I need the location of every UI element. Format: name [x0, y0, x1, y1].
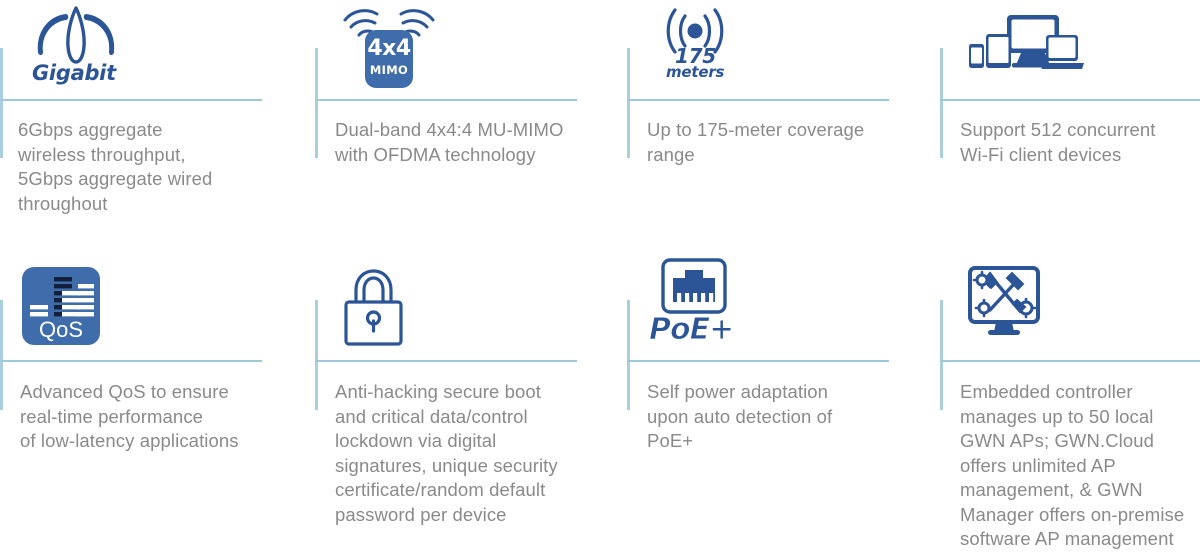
feature-caption: Advanced QoS to ensure real-time perform… — [20, 380, 295, 454]
feature-caption: 6Gbps aggregate wireless throughput, 5Gb… — [18, 118, 278, 216]
cell-vertical-rule — [0, 300, 3, 410]
cell-horizontal-rule — [315, 360, 577, 362]
range-icon-sub-label: meters — [666, 63, 724, 81]
gigabit-icon-label: Gigabit — [32, 61, 116, 85]
cell-horizontal-rule — [940, 360, 1200, 362]
feature-caption: Support 512 concurrent Wi-Fi client devi… — [960, 118, 1200, 167]
cell-horizontal-rule — [940, 99, 1200, 101]
feature-card-qos: QoS Advanced QoS to ensure real-time per… — [0, 250, 300, 526]
4x4-mimo-icon: 4x4 MIMO — [331, 2, 447, 90]
feature-caption: Self power adaptation upon auto detectio… — [647, 380, 917, 454]
feature-card-security: Anti-hacking secure boot and critical da… — [315, 250, 615, 526]
feature-card-mimo: 4x4 MIMO Dual-band 4x4:4 MU-MIMO with OF… — [315, 0, 615, 250]
cell-vertical-rule — [627, 48, 630, 158]
feature-card-gigabit: Gigabit 6Gbps aggregate wireless through… — [0, 0, 300, 250]
mimo-badge-sub-label: MIMO — [365, 63, 413, 77]
cell-vertical-rule — [940, 48, 943, 158]
qos-equalizer-icon: QoS — [22, 267, 100, 345]
cell-horizontal-rule — [627, 99, 889, 101]
feature-caption: Dual-band 4x4:4 MU-MIMO with OFDMA techn… — [335, 118, 605, 167]
mimo-badge: 4x4 MIMO — [365, 30, 413, 88]
cell-vertical-rule — [0, 48, 3, 158]
qos-badge-label: QoS — [22, 317, 100, 343]
feature-card-poe: PoE+ Self power adaptation upon auto det… — [627, 250, 927, 526]
multi-device-icon — [966, 12, 1086, 82]
mimo-badge-main-label: 4x4 — [365, 36, 413, 61]
feature-caption: Up to 175-meter coverage range — [647, 118, 915, 167]
padlock-icon — [339, 264, 411, 350]
cell-vertical-rule — [315, 300, 318, 410]
cell-horizontal-rule — [0, 360, 262, 362]
ethernet-port-icon: PoE+ — [649, 256, 755, 348]
cell-vertical-rule — [315, 48, 318, 158]
feature-card-controller: Embedded controller manages up to 50 loc… — [940, 250, 1200, 526]
feature-card-coverage: 175 meters Up to 175-meter coverage rang… — [627, 0, 927, 250]
monitor-tools-icon — [966, 264, 1044, 342]
cell-vertical-rule — [940, 300, 943, 410]
qos-badge: QoS — [22, 267, 100, 345]
cell-horizontal-rule — [0, 99, 262, 101]
feature-card-clients: Support 512 concurrent Wi-Fi client devi… — [940, 0, 1200, 250]
signal-range-icon: 175 meters — [651, 4, 743, 88]
cell-vertical-rule — [627, 300, 630, 410]
feature-caption: Anti-hacking secure boot and critical da… — [335, 380, 610, 527]
cell-horizontal-rule — [627, 360, 889, 362]
gigabit-antenna-icon: Gigabit — [28, 6, 120, 88]
cell-horizontal-rule — [315, 99, 577, 101]
feature-grid: Gigabit 6Gbps aggregate wireless through… — [0, 0, 1200, 526]
poe-icon-label: PoE+ — [649, 312, 733, 347]
